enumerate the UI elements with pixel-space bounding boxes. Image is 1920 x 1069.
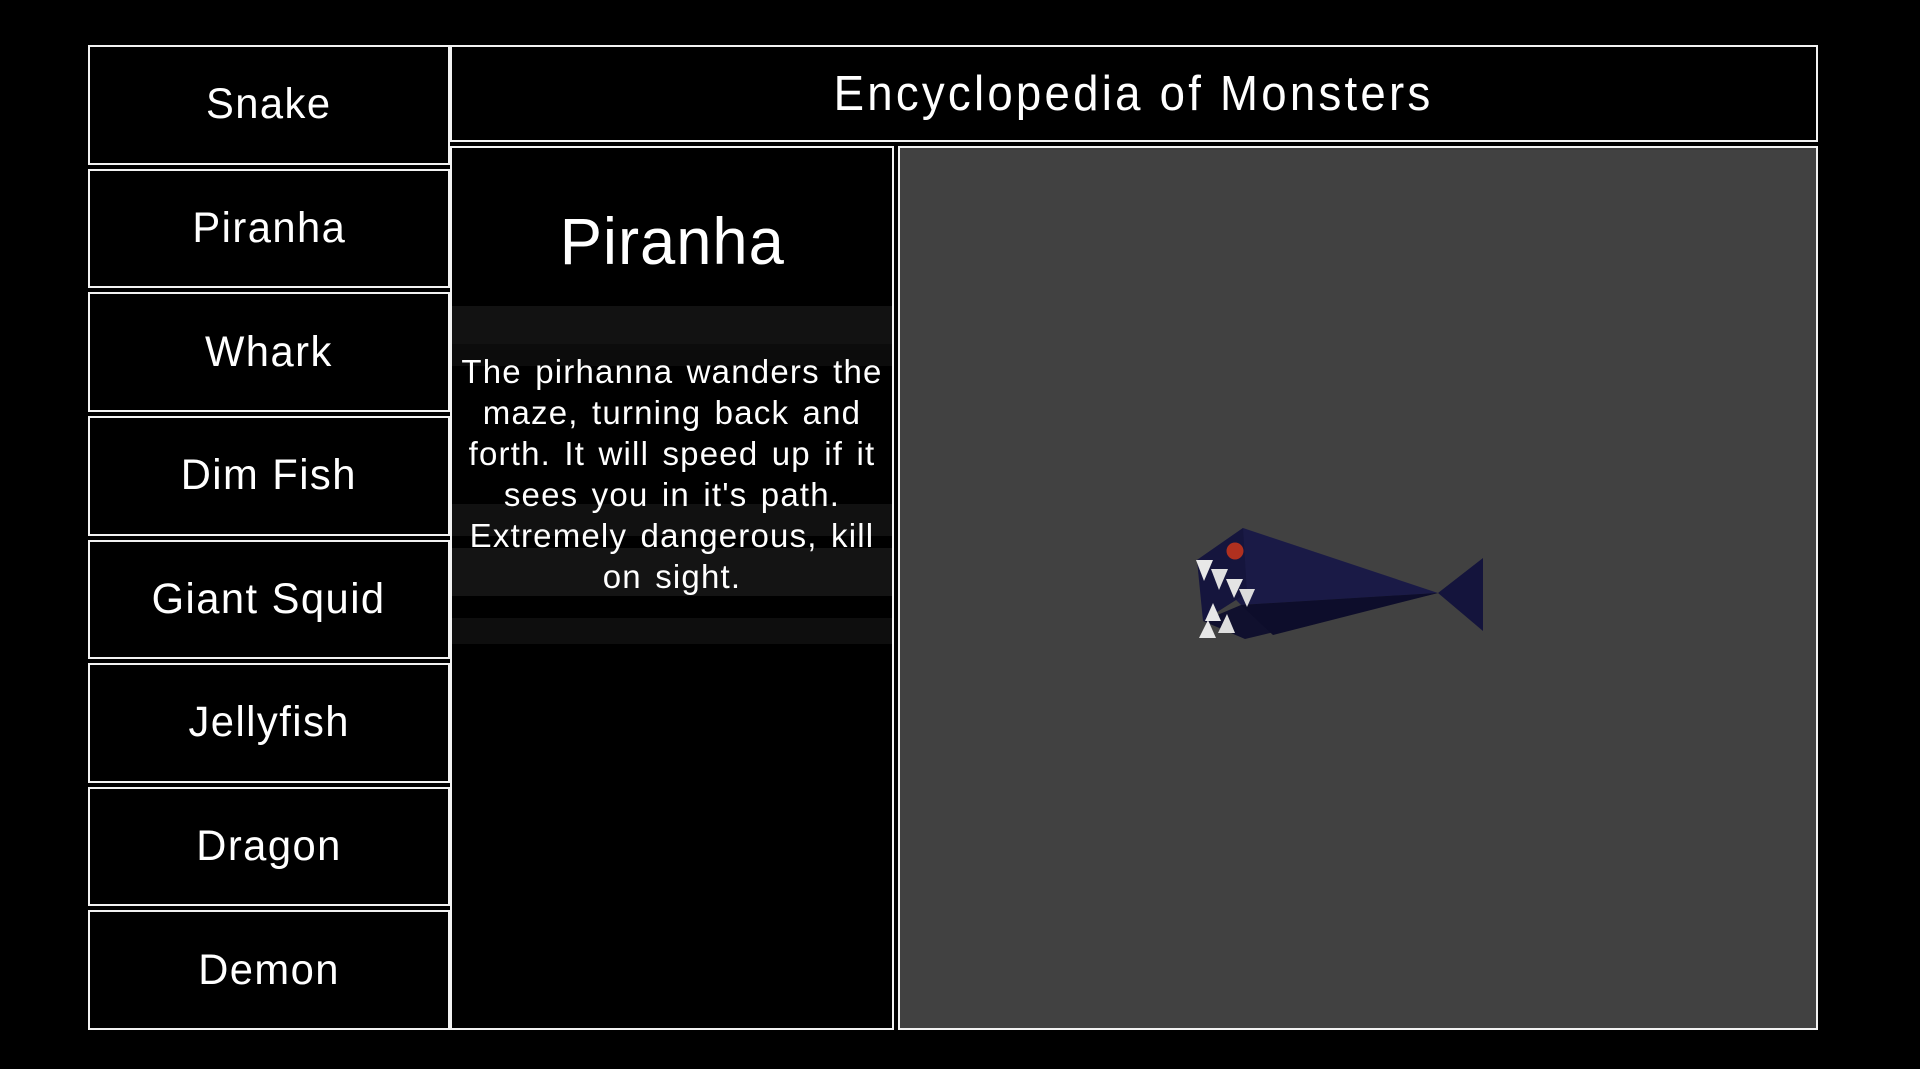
sidebar-item-label: Dim Fish [181,454,357,497]
detail-content-row: Piranha The pirhanna wanders the maze, t… [450,146,1818,1030]
monster-description-panel: Piranha The pirhanna wanders the maze, t… [450,146,894,1030]
monster-preview-panel [898,146,1818,1030]
monster-description-text: The pirhanna wanders the maze, turning b… [457,351,887,597]
monster-name: Piranha [559,203,784,279]
sidebar-item-dragon[interactable]: Dragon [88,787,450,907]
monster-list-sidebar: Snake Piranha Whark Dim Fish Giant Squid… [88,45,450,1030]
sidebar-item-label: Whark [205,331,333,374]
sidebar-item-label: Jellyfish [188,701,349,744]
sidebar-item-label: Dragon [196,825,342,868]
sidebar-item-label: Piranha [192,207,346,250]
sidebar-item-piranha[interactable]: Piranha [88,169,450,289]
sidebar-item-dim-fish[interactable]: Dim Fish [88,416,450,536]
sidebar-item-label: Giant Squid [152,578,386,621]
encyclopedia-frame: Snake Piranha Whark Dim Fish Giant Squid… [88,45,1818,1030]
background-band [452,306,892,344]
encyclopedia-right-column: Encyclopedia of Monsters Piranha The pir… [450,45,1818,1030]
page-title-bar: Encyclopedia of Monsters [450,45,1818,142]
sidebar-item-snake[interactable]: Snake [88,45,450,165]
sidebar-item-label: Demon [198,949,340,992]
sidebar-item-jellyfish[interactable]: Jellyfish [88,663,450,783]
piranha-sprite [1183,513,1523,673]
background-band [452,618,892,644]
encyclopedia-screen: Snake Piranha Whark Dim Fish Giant Squid… [0,0,1920,1069]
sidebar-item-label: Snake [206,83,332,126]
sidebar-item-demon[interactable]: Demon [88,910,450,1030]
page-title: Encyclopedia of Monsters [834,66,1434,122]
sidebar-item-giant-squid[interactable]: Giant Squid [88,540,450,660]
sidebar-item-whark[interactable]: Whark [88,292,450,412]
